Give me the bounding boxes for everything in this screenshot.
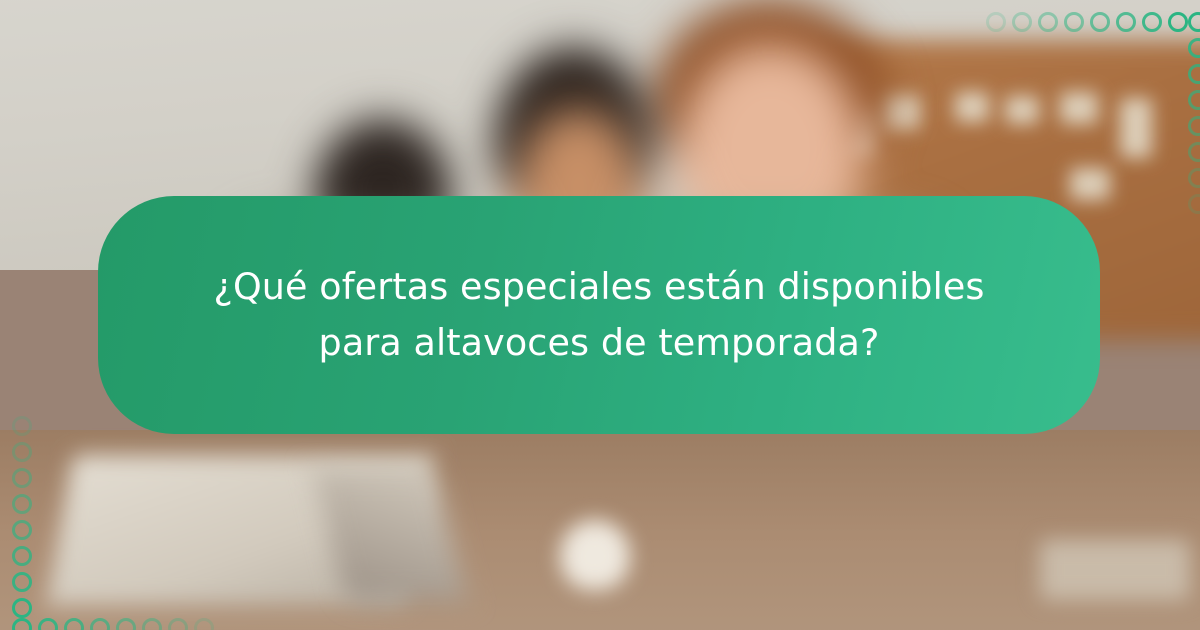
decor-dot: [12, 494, 32, 514]
decor-dot: [1038, 12, 1058, 32]
decor-dot: [1142, 12, 1162, 32]
decor-dot: [12, 520, 32, 540]
decor-dot: [986, 12, 1006, 32]
question-card: ¿Qué ofertas especiales están disponible…: [98, 196, 1100, 434]
poster-canvas: ¿Qué ofertas especiales están disponible…: [0, 0, 1200, 630]
decor-dot: [1064, 12, 1084, 32]
decor-dot: [12, 416, 32, 436]
decor-dot: [1090, 12, 1110, 32]
decor-dot: [1116, 12, 1136, 32]
background-cup: [560, 520, 630, 590]
decor-dot: [1012, 12, 1032, 32]
background-book: [1040, 540, 1190, 600]
decor-dot: [12, 468, 32, 488]
decor-dot: [1168, 12, 1188, 32]
decor-dot: [12, 442, 32, 462]
decor-dot: [12, 546, 32, 566]
question-text: ¿Qué ofertas especiales están disponible…: [162, 259, 1036, 371]
decor-dot: [12, 572, 32, 592]
decor-dot: [12, 598, 32, 618]
